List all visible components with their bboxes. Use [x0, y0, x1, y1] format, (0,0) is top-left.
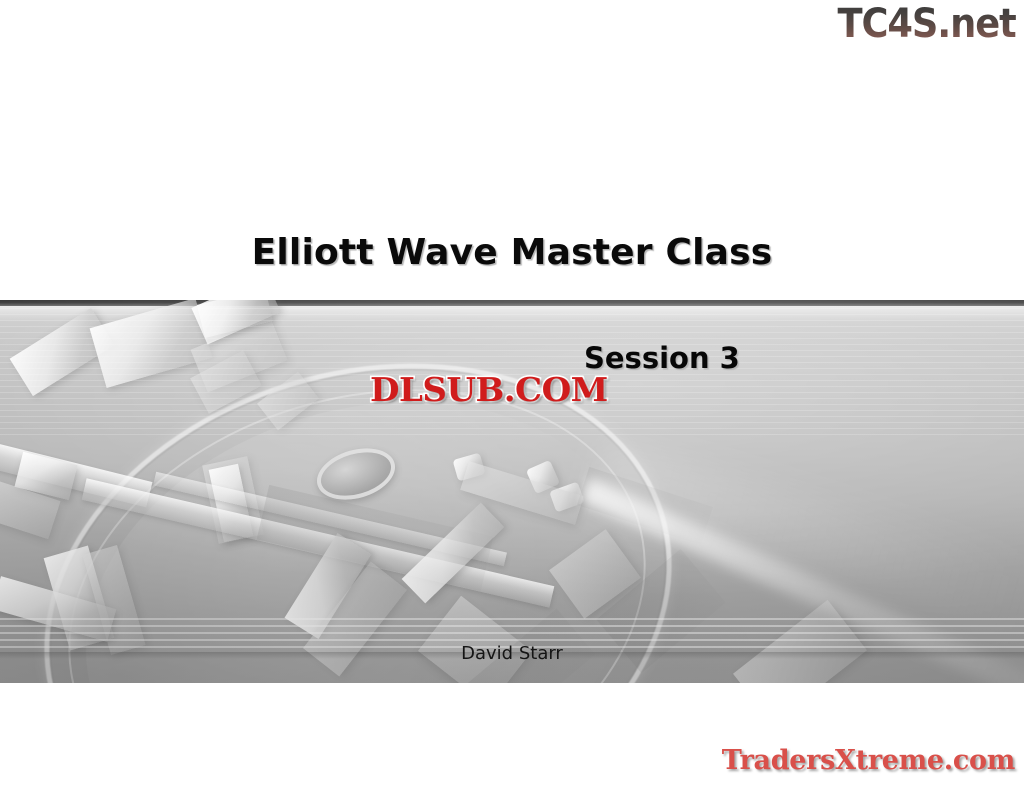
band-vignette — [0, 300, 1024, 683]
hero-image-band — [0, 300, 1024, 683]
presentation-slide: TC4S.net Elliott Wave Master Class — [0, 0, 1024, 791]
page-title: Elliott Wave Master Class — [0, 231, 1024, 275]
presenter-name: David Starr — [0, 643, 1024, 665]
tradersxtreme-logo: TradersXtreme.com — [722, 745, 1015, 777]
dlsub-watermark: DLSUB.COM — [370, 373, 608, 407]
tc4s-logo: TC4S.net — [838, 2, 1016, 46]
